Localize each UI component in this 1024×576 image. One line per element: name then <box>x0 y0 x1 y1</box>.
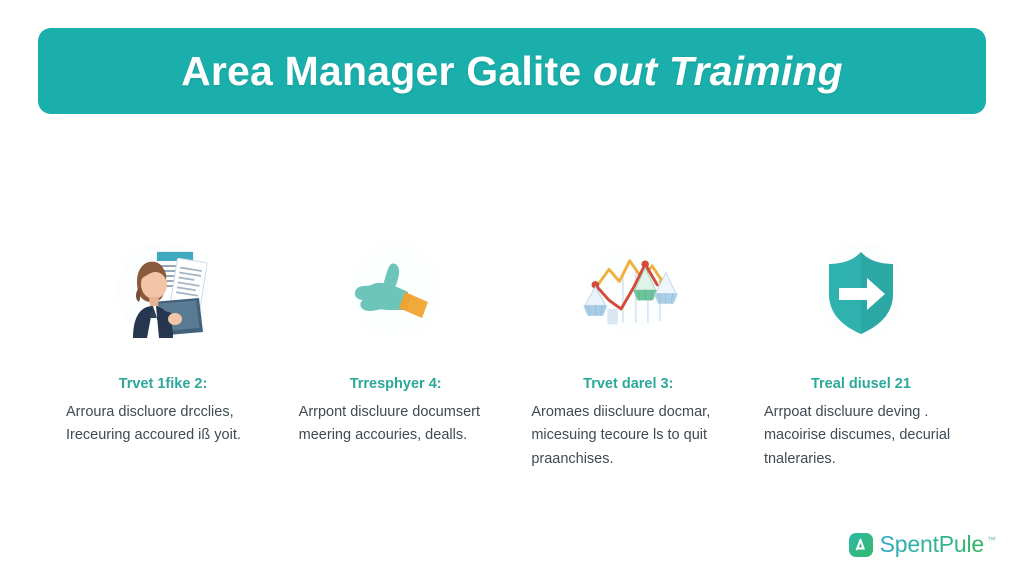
open-hand-icon <box>341 238 451 342</box>
feature-heading-4: Treal diusel 21 <box>811 376 911 392</box>
chart-balance-scales-icon <box>573 238 683 342</box>
feature-column-1: Trvet 1fike 2: Arroura discluore drcclie… <box>60 238 266 448</box>
brand-logo: SpentPule ™ <box>849 531 996 558</box>
feature-column-2: Trresphyer 4: Arrpont discluure documser… <box>293 238 499 448</box>
feature-body-2: Arrpont discluure documsert meering acco… <box>293 401 499 448</box>
page-title-main: Area Manager Galite <box>181 48 581 94</box>
spentpule-logo-icon <box>849 533 873 557</box>
feature-body-4: Arrpoat discluure deving . macoirise dis… <box>758 401 964 471</box>
page-title-emphasis: out Traiming <box>593 48 843 94</box>
person-reviewing-documents-icon <box>108 238 218 342</box>
brand-name: SpentPule <box>880 531 984 558</box>
feature-column-3: Trvet darel 3: Aromaes diiscluure docmar… <box>525 238 731 471</box>
feature-heading-2: Trresphyer 4: <box>350 376 442 392</box>
feature-body-3: Aromaes diiscluure docmar, micesuing tec… <box>525 401 731 471</box>
header-banner: Area Manager Galite out Traiming <box>38 28 986 114</box>
feature-heading-3: Trvet darel 3: <box>583 376 673 392</box>
feature-heading-1: Trvet 1fike 2: <box>119 376 208 392</box>
page-title: Area Manager Galite out Traiming <box>181 48 843 95</box>
feature-columns: Trvet 1fike 2: Arroura discluore drcclie… <box>60 238 964 471</box>
feature-column-4: Treal diusel 21 Arrpoat discluure deving… <box>758 238 964 471</box>
trademark-symbol: ™ <box>987 535 996 545</box>
shield-arrow-icon <box>806 238 916 342</box>
feature-body-1: Arroura discluore drcclies, Ireceuring a… <box>60 401 266 448</box>
